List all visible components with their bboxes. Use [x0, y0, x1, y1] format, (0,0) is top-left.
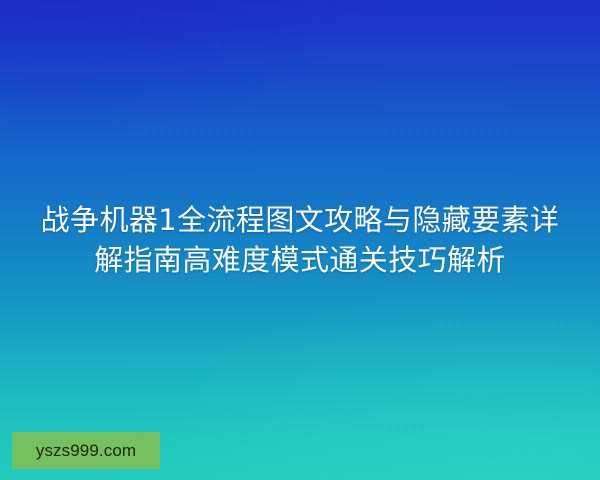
- title-line-2: 解指南高难度模式通关技巧解析: [18, 240, 582, 280]
- title-line-1: 战争机器1全流程图文攻略与隐藏要素详: [18, 200, 582, 240]
- title-card: 战争机器1全流程图文攻略与隐藏要素详 解指南高难度模式通关技巧解析 yszs99…: [0, 0, 600, 480]
- watermark-site-label: yszs999.com: [36, 442, 136, 459]
- watermark-badge: yszs999.com: [12, 432, 160, 469]
- page-title: 战争机器1全流程图文攻略与隐藏要素详 解指南高难度模式通关技巧解析: [0, 200, 600, 280]
